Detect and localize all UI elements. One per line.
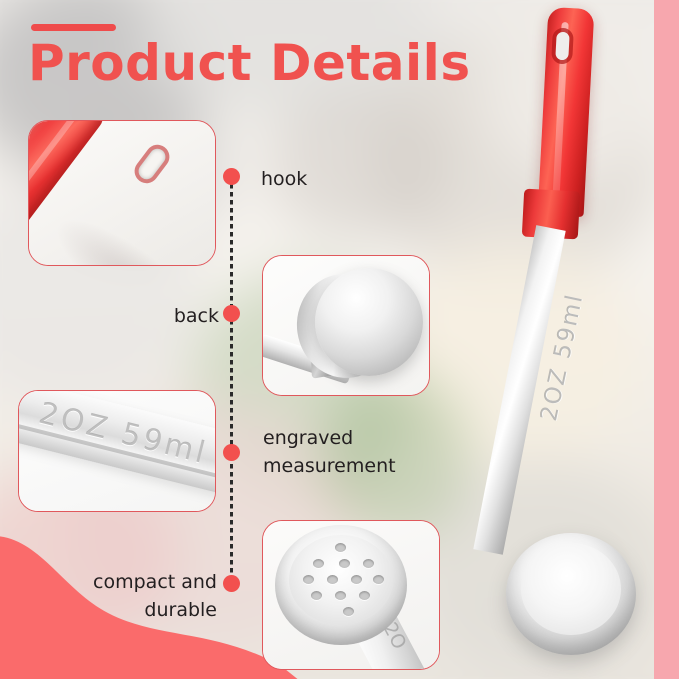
- product-hook-hole: [555, 32, 569, 61]
- thumbnail-card-engraved-measurement: 2OZ 59ml: [18, 390, 216, 512]
- pink-side-bar: [654, 0, 679, 679]
- callout-dot-hook: [223, 168, 240, 185]
- thumbnail-card-hook: [28, 120, 216, 266]
- product-details-infographic: Product Details hook back engraved measu…: [0, 0, 679, 679]
- callout-dot-back: [223, 305, 240, 322]
- callout-label-compact-and-durable: compact and durable: [93, 569, 217, 624]
- callout-label-back: back: [174, 303, 219, 331]
- callout-label-engraved-measurement: engraved measurement: [263, 425, 396, 480]
- callout-dot-engraved-measurement: [223, 444, 240, 461]
- title-accent-bar: [31, 24, 116, 31]
- callout-dot-compact-and-durable: [223, 575, 240, 592]
- callout-connector-line: [230, 176, 233, 592]
- thumbnail-card-back: [262, 255, 430, 396]
- page-title: Product Details: [28, 36, 471, 91]
- product-bowl-inner: [521, 543, 621, 635]
- callout-label-hook: hook: [261, 166, 307, 194]
- thumbnail-card-compact-and-durable: 2O: [262, 520, 440, 670]
